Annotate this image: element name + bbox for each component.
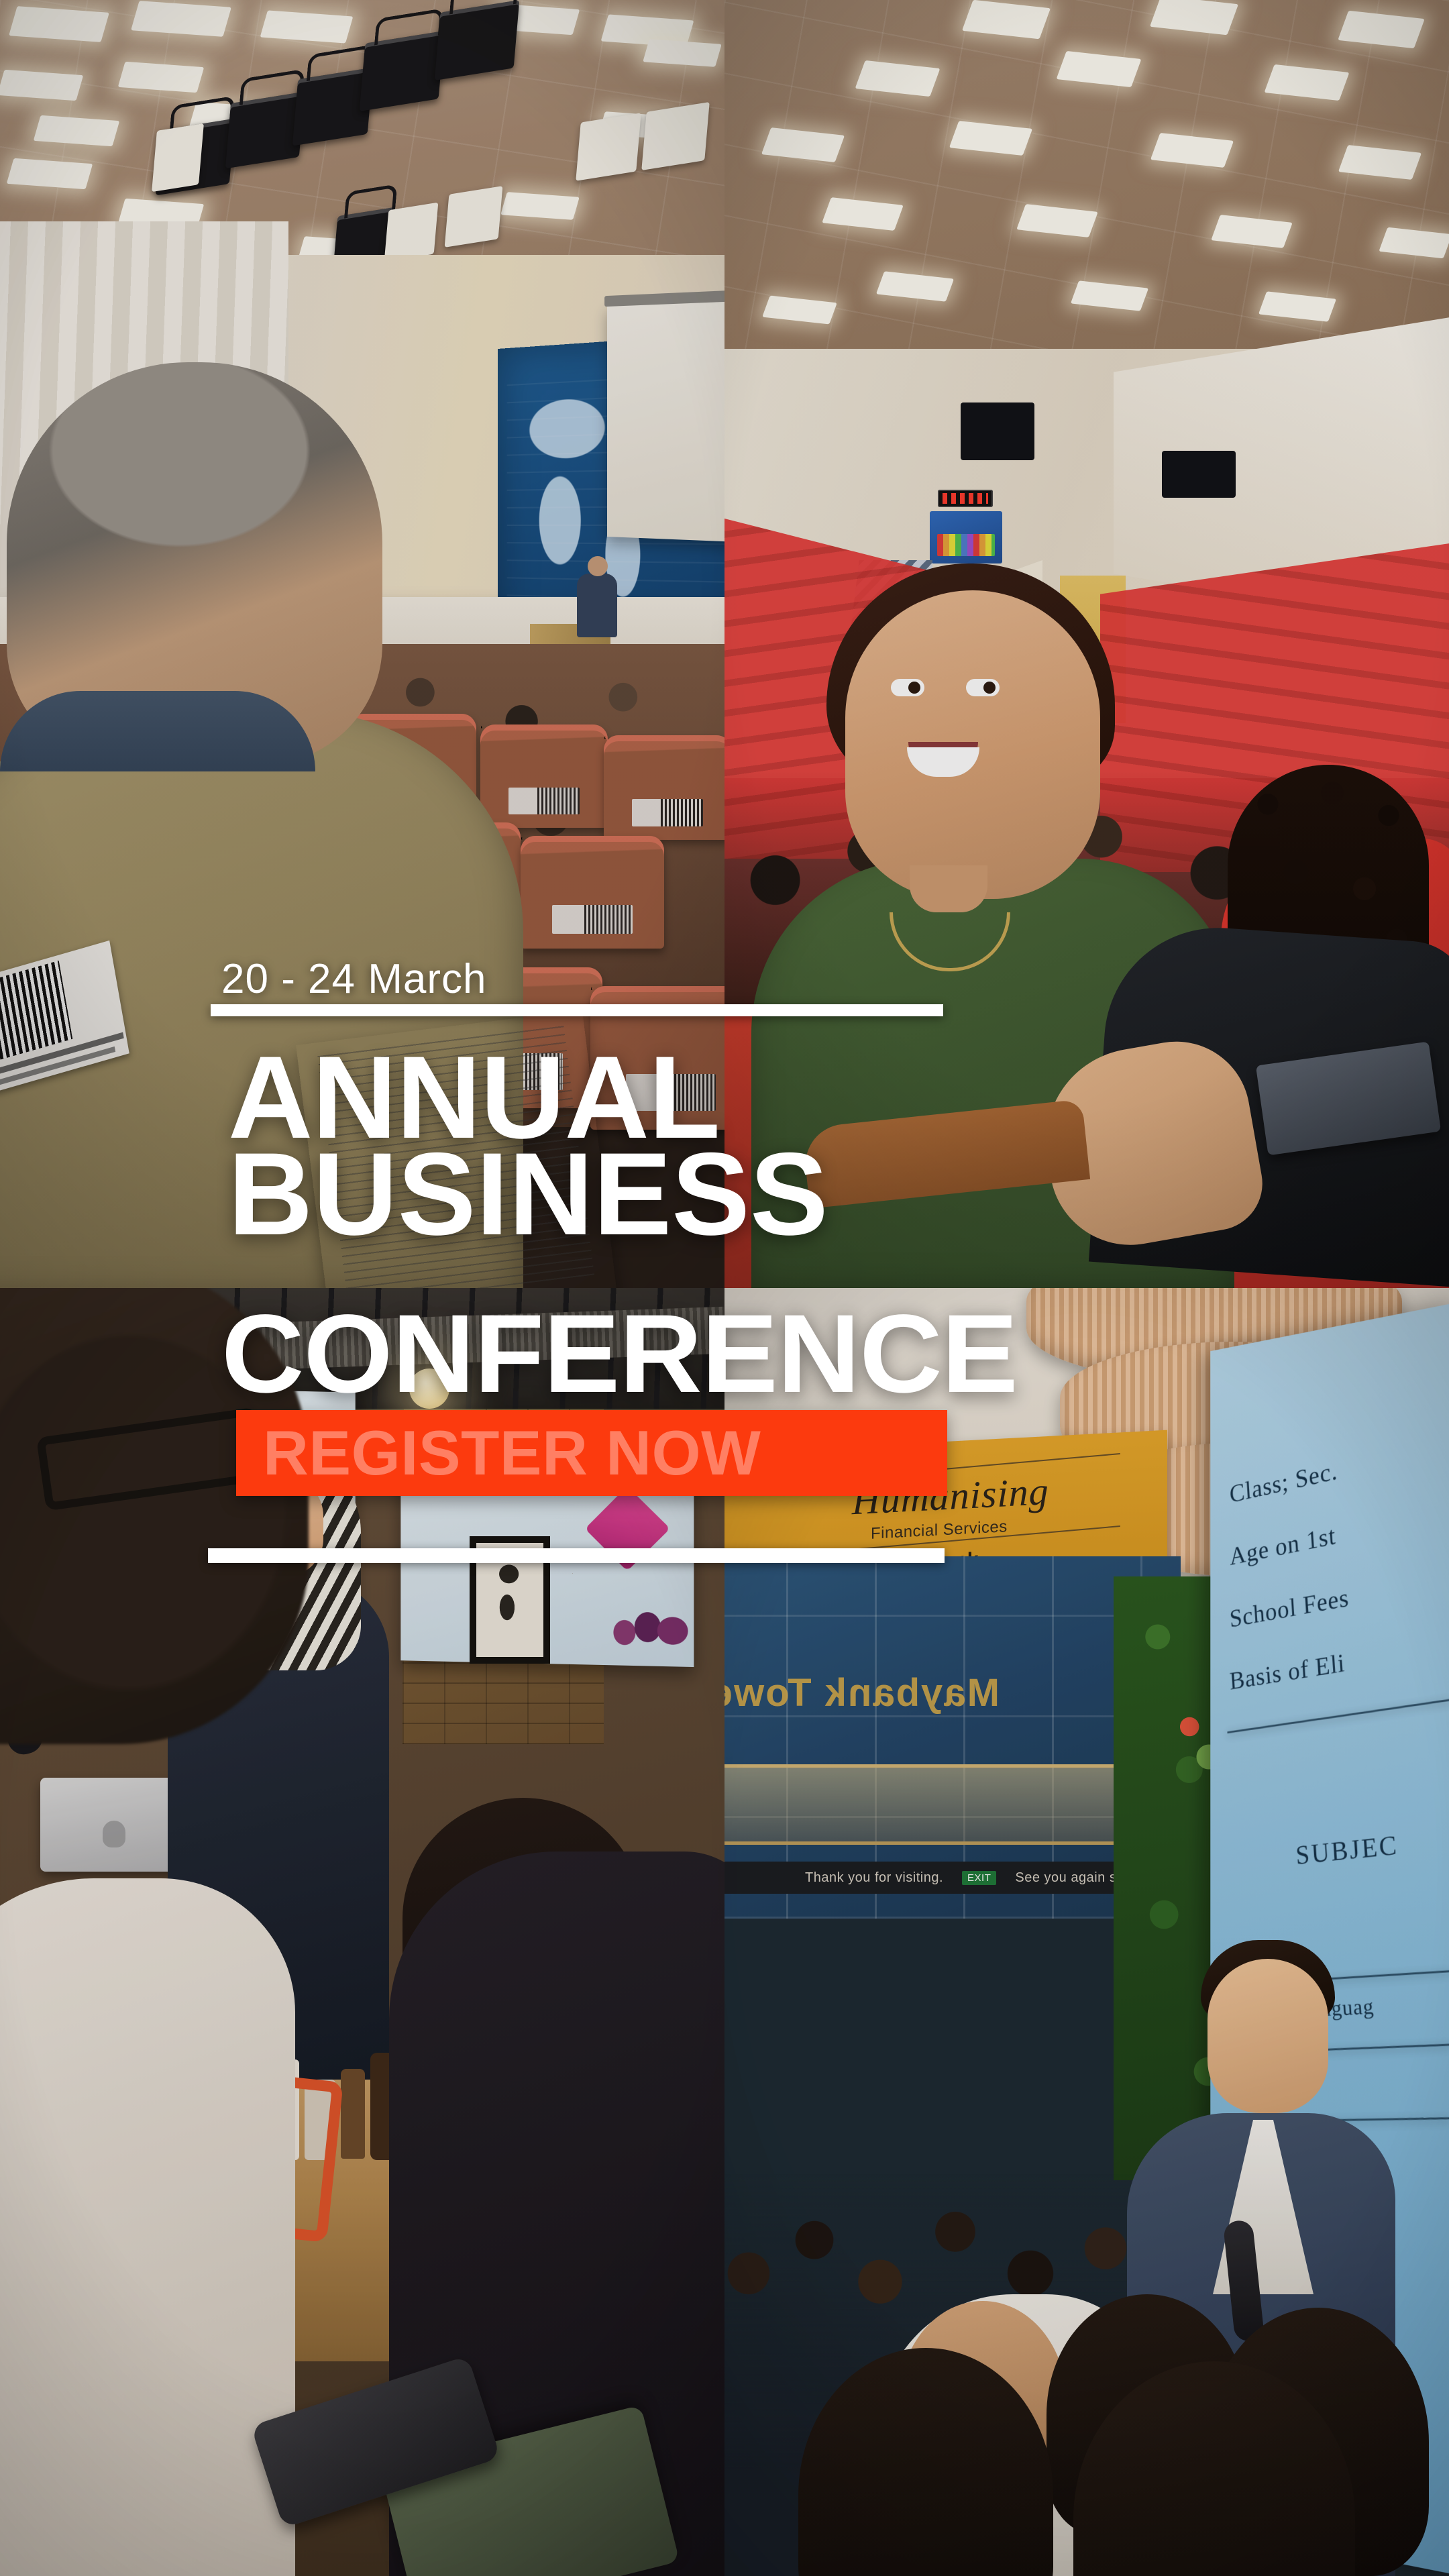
wall-monitor-right bbox=[1162, 451, 1236, 498]
visitor-bar-left-text: Thank you for visiting. bbox=[805, 1870, 943, 1886]
register-now-button[interactable]: REGISTER NOW bbox=[236, 1410, 947, 1496]
divider-rule-bottom bbox=[208, 1548, 945, 1563]
register-now-label: REGISTER NOW bbox=[236, 1421, 761, 1485]
board-line-3: School Fees bbox=[1229, 1562, 1449, 1633]
photo-collage-grid: From Lokum to Jelly Candy And here comes… bbox=[0, 0, 1449, 2576]
board-heading: SUBJEC bbox=[1295, 1829, 1399, 1871]
title-line-conference: CONFERENCE bbox=[221, 1307, 1018, 1403]
stage-speaker-person bbox=[577, 574, 617, 637]
ornament-icon-bottom-2 bbox=[608, 1609, 691, 1652]
digital-timer-display bbox=[938, 490, 993, 507]
divider-rule-top bbox=[211, 1004, 943, 1016]
board-line-2: Age on 1st bbox=[1229, 1496, 1449, 1571]
projection-screen bbox=[607, 299, 724, 542]
led-screen bbox=[930, 511, 1002, 563]
woman-eye-right bbox=[966, 679, 1000, 696]
board-line-1: Class; Sec. bbox=[1229, 1429, 1449, 1509]
necklace bbox=[890, 912, 1010, 971]
woman-neck bbox=[910, 865, 987, 912]
woman-face bbox=[845, 590, 1100, 899]
board-divider-1 bbox=[1227, 1699, 1449, 1733]
reflected-tower-text: Maybank Tower bbox=[724, 1670, 1000, 1737]
presenter-laptop bbox=[40, 1778, 188, 1872]
woman-eye-left bbox=[891, 679, 924, 696]
attendee-white-shirt bbox=[0, 1878, 295, 2576]
foreground-audience-heads bbox=[724, 2187, 1449, 2576]
speaker-face bbox=[1207, 1959, 1328, 2113]
title-line-business: BUSINESS bbox=[228, 1144, 828, 1246]
board-line-4: Basis of Eli bbox=[1229, 1629, 1449, 1696]
conference-poster: From Lokum to Jelly Candy And here comes… bbox=[0, 0, 1449, 2576]
event-date-range: 20 - 24 March bbox=[221, 955, 487, 1003]
exit-sign: EXIT bbox=[962, 1871, 996, 1885]
qr-code-icon bbox=[0, 961, 72, 1061]
photo-top-right-hall bbox=[724, 0, 1449, 1288]
wall-monitor-left bbox=[961, 402, 1034, 460]
